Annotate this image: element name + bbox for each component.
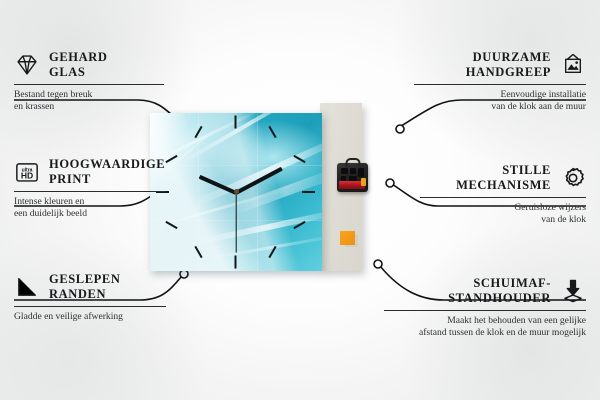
gear-icon [560,165,586,191]
picture-frame-hanger-icon [560,52,586,78]
feature-title-line1: SCHUIMAF- [473,276,551,290]
feature-caption-line1: Maakt het behouden van een gelijke [447,315,586,326]
connector-marker-schuimaf-standhouder [374,260,382,268]
feature-caption-line1: Eenvoudige installatie [500,89,586,100]
quartz-movement [337,163,368,192]
feature-title-line2: HANDGREEP [466,65,551,79]
divider [14,84,164,85]
hour-marker-6 [235,256,237,269]
feature-title-line2: STANDHOUDER [448,291,551,305]
ultra-hd-icon-large-text: HD [21,170,33,180]
connector-marker-stille-mechanisme [386,179,394,187]
movement-detail [341,168,348,174]
feature-title-line2: RANDEN [49,287,106,301]
feature-schuimaf-standhouder[interactable]: SCHUIMAF- STANDHOUDER Maakt het behouden… [384,276,586,340]
diamond-icon [14,52,40,78]
feature-gehard-glas[interactable]: GEHARD GLAS Bestand tegen breuk en krass… [14,50,164,114]
feature-caption-line1: Gladde en veilige afwerking [14,311,123,322]
divider [414,84,586,85]
feature-title-line1: DUURZAME [473,50,551,64]
divider [14,191,166,192]
feature-caption-line2: van de klok [541,214,586,225]
divider [420,197,586,198]
clock-hub [234,189,239,194]
divider [14,306,166,307]
product-image [150,103,362,275]
feature-title-line1: HOOGWAARDIGE [49,157,165,171]
hour-marker-3 [302,191,315,193]
hour-marker-12 [235,116,237,129]
feature-hoogwaardige-print[interactable]: ultra HD HOOGWAARDIGE PRINT Intense kleu… [14,157,166,221]
foam-spacer-pad [340,231,355,245]
feature-caption-line2: en krassen [14,101,54,112]
battery [339,181,365,189]
feature-stille-mechanisme[interactable]: STILLE MECHANISME Geruisloze wijzers van… [420,163,586,227]
spacer-arrow-icon [560,278,586,304]
feature-duurzame-handgreep[interactable]: DUURZAME HANDGREEP Eenvoudige installati… [414,50,586,114]
connector-marker-duurzame-handgreep [396,125,404,133]
feature-title-line2: MECHANISME [456,178,551,192]
feature-title-line1: GESLEPEN [49,272,121,286]
feature-title-line2: PRINT [49,172,91,186]
infographic-canvas: GEHARD GLAS Bestand tegen breuk en krass… [0,0,600,400]
ultra-hd-icon: ultra HD [14,159,40,185]
feature-title-line1: GEHARD [49,50,107,64]
movement-detail [358,168,364,177]
feature-caption-line2: van de klok aan de muur [491,101,586,112]
feature-caption-line1: Intense kleuren en [14,196,84,207]
feature-caption-line2: afstand tussen de klok en de muur mogeli… [419,327,586,338]
feature-title-line2: GLAS [49,65,85,79]
clock-face [150,113,322,271]
divider [384,310,586,311]
battery-positive-terminal [361,178,366,186]
bevelled-edges-icon [14,274,40,300]
feature-title-line1: STILLE [502,163,551,177]
feature-caption-line2: een duidelijk beeld [14,208,87,219]
feature-caption-line1: Geruisloze wijzers [514,202,586,213]
feature-geslepen-randen[interactable]: GESLEPEN RANDEN Gladde en veilige afwerk… [14,272,166,323]
movement-detail [350,168,356,174]
second-hand [235,193,236,253]
hanger-loop-icon [345,158,360,167]
feature-caption-line1: Bestand tegen breuk [14,89,92,100]
hour-marker-1 [268,126,276,138]
